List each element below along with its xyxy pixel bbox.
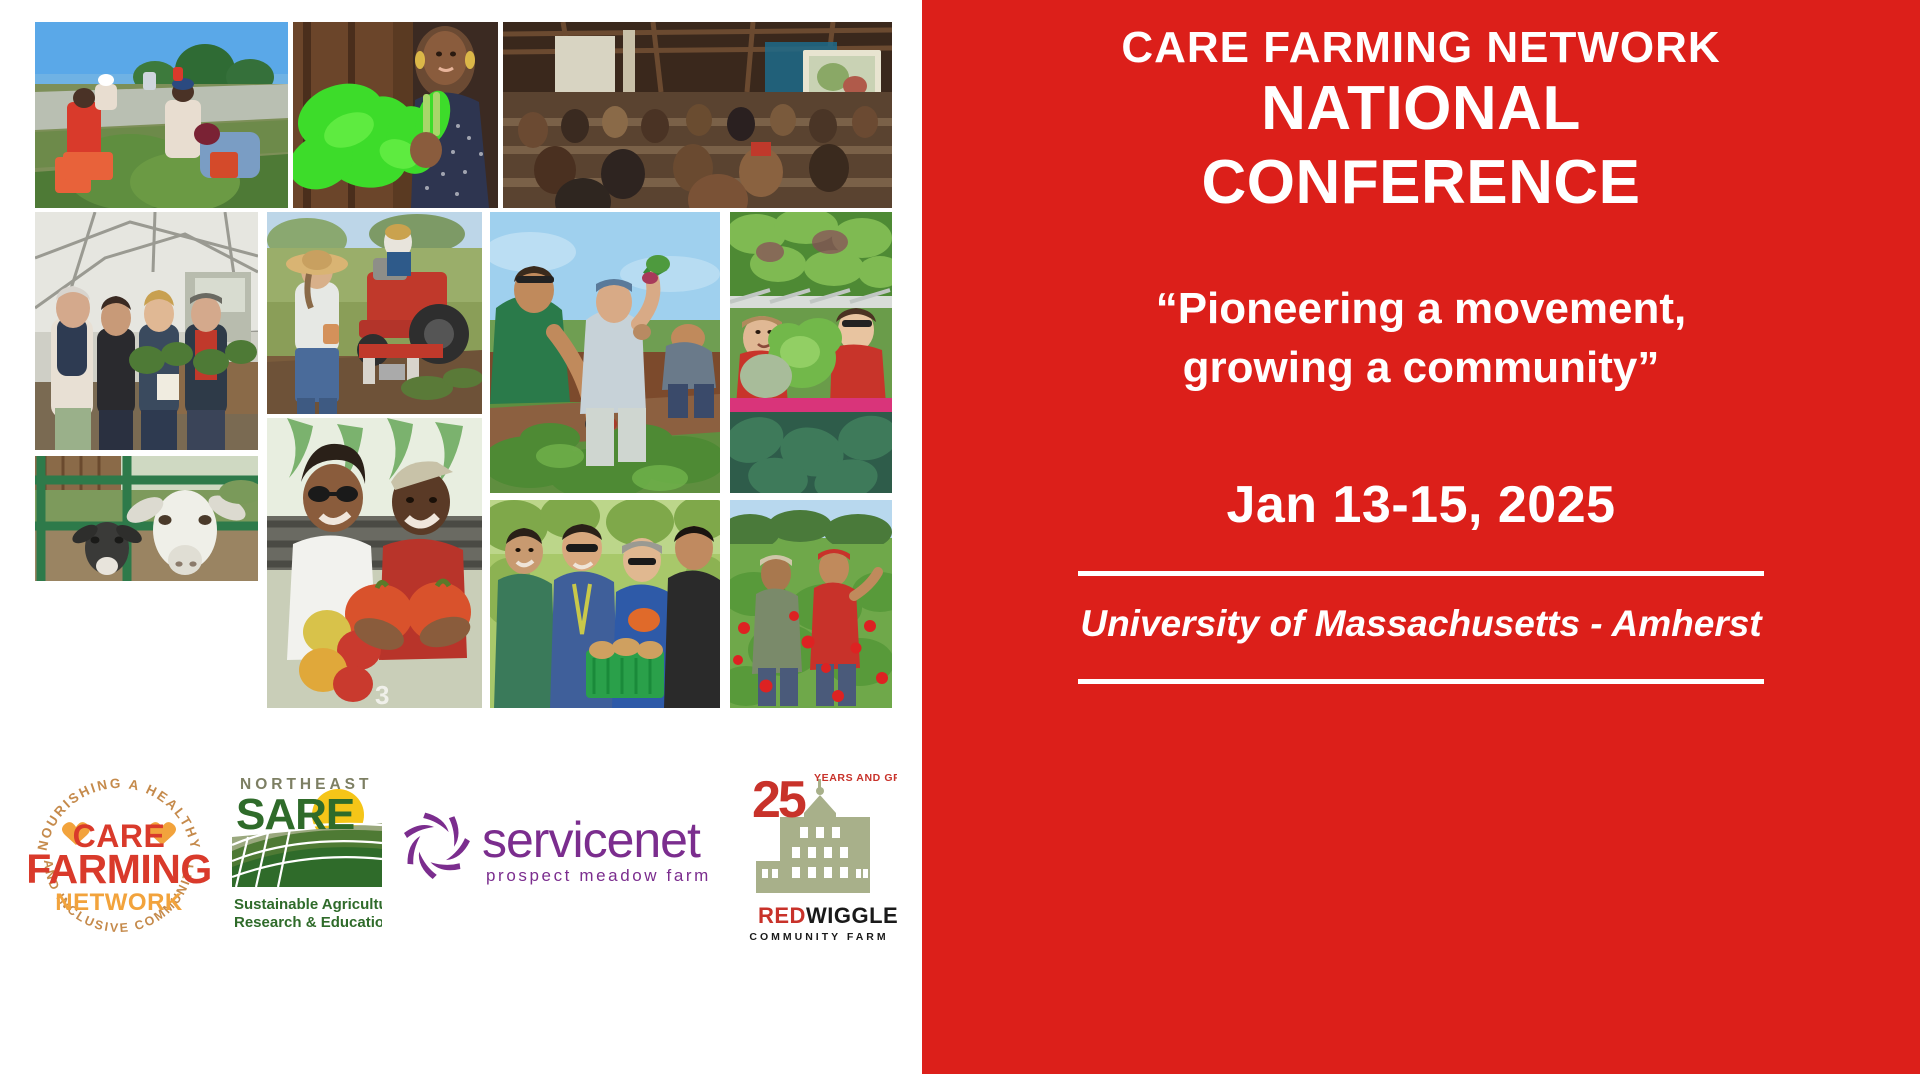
collage-photo-flower-field <box>730 500 892 708</box>
collage-photo-field-harvest <box>35 22 288 208</box>
collage-photo-group-crate <box>490 500 720 708</box>
logo-northeast-sare: NORTHEAST SARE Sustainable Agriculture R… <box>232 767 382 942</box>
servicenet-swirl-icon <box>401 808 474 882</box>
tagline-line2: growing a community” <box>1156 338 1687 397</box>
conference-title-line1: NATIONAL <box>1261 72 1581 145</box>
servicenet-tagline: prospect meadow farm <box>486 866 711 885</box>
cfn-word-network: NETWORK <box>55 889 183 916</box>
logo-servicenet: servicenet prospect meadow farm <box>400 805 712 897</box>
logo-red-wiggler: 25 YEARS AND GROWING RED WIGGLER COMMUNI… <box>742 765 897 945</box>
conference-venue: University of Massachusetts - Amherst <box>1080 603 1761 645</box>
organization-name: CARE FARMING NETWORK <box>1121 24 1720 72</box>
collage-photo-tractor <box>267 212 482 414</box>
redwiggler-anniversary-number: 25 <box>752 771 806 829</box>
svg-text:3: 3 <box>375 680 389 708</box>
redwiggler-word-red: RED <box>758 903 806 928</box>
servicenet-wordmark: servicenet <box>482 812 701 868</box>
cfn-word-farming: FARMING <box>28 846 210 892</box>
sare-sub-line2: Research & Education <box>234 914 382 931</box>
redwiggler-anniversary-tag: YEARS AND GROWING <box>814 772 897 784</box>
conference-poster: 3 <box>0 0 1920 1080</box>
sare-main-text: SARE <box>236 790 354 839</box>
conference-title-line2: CONFERENCE <box>1201 146 1640 219</box>
collage-photo-two-men-produce: 3 <box>267 418 482 708</box>
collage-photo-goats <box>35 456 258 581</box>
photo-collage: 3 <box>35 22 892 708</box>
sponsor-logos: NOURISHING A HEALTHY AND INCLUSIVE COMMU… <box>0 745 922 975</box>
conference-dates: Jan 13-15, 2025 <box>1226 475 1615 535</box>
sare-sub-line1: Sustainable Agriculture <box>234 896 382 913</box>
tagline-line1: “Pioneering a movement, <box>1156 279 1687 338</box>
collage-photo-market-lettuce <box>730 212 892 493</box>
collage-photo-youth-harvest <box>490 212 720 493</box>
collage-photo-barn-audience <box>503 22 892 208</box>
collage-photo-greenhouse-group <box>35 212 258 450</box>
divider-rule-lower <box>1078 679 1764 684</box>
redwiggler-word-wiggler: WIGGLER <box>806 903 897 928</box>
divider-rule-upper <box>1078 571 1764 576</box>
collage-photo-woman-greens <box>293 22 498 208</box>
redwiggler-sub-text: COMMUNITY FARM <box>749 931 888 943</box>
info-panel: CARE FARMING NETWORK NATIONAL CONFERENCE… <box>922 0 1920 1074</box>
logo-care-farming-network: NOURISHING A HEALTHY AND INCLUSIVE COMMU… <box>28 757 210 952</box>
conference-tagline: “Pioneering a movement, growing a commun… <box>1156 279 1687 398</box>
